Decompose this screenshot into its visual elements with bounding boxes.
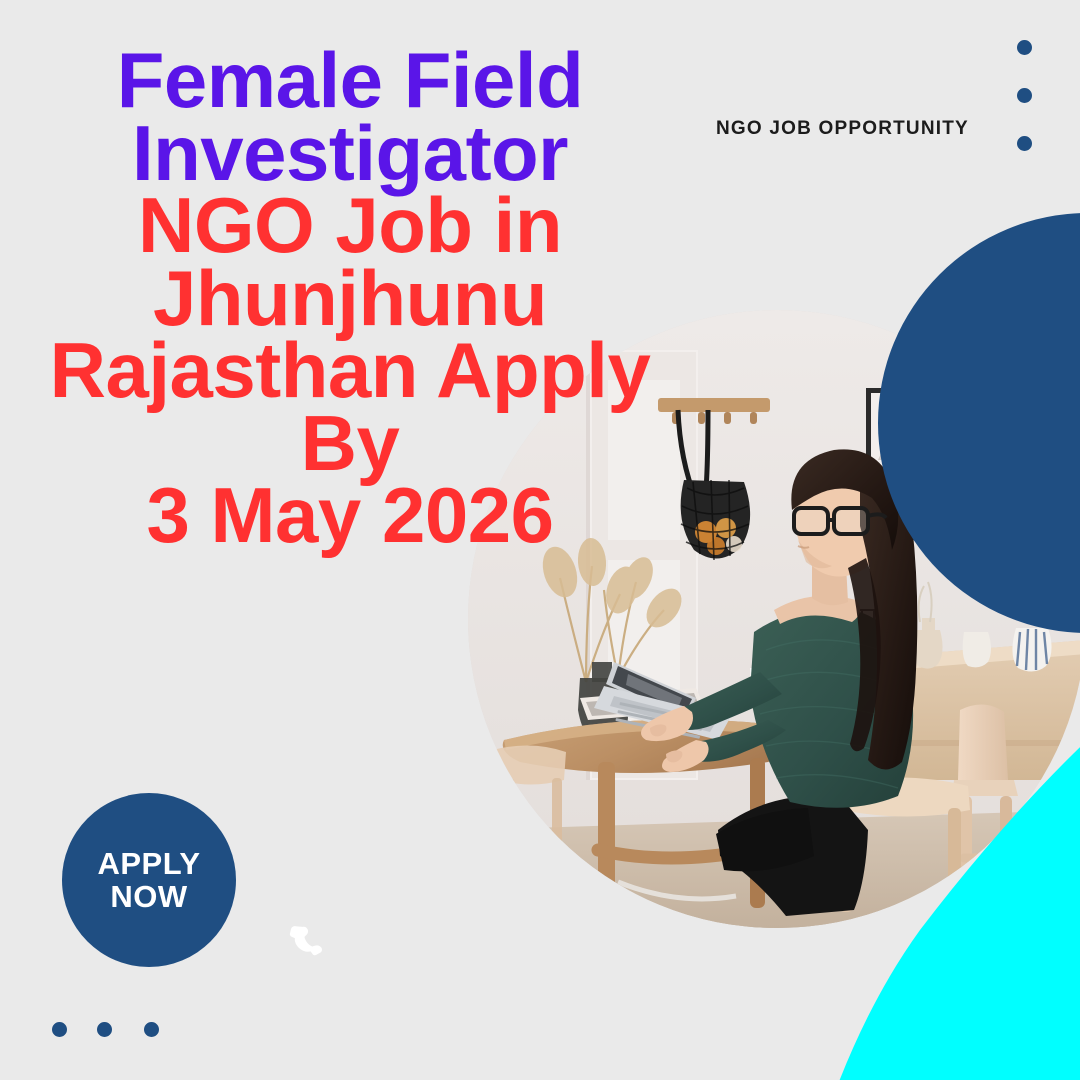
phone-icon: [284, 922, 326, 964]
decor-dot: [1017, 88, 1032, 103]
decor-dot: [1017, 40, 1032, 55]
poster-canvas: NGO JOB OPPORTUNITY Female Field Investi…: [0, 0, 1080, 1080]
apply-now-label-line1: APPLY: [97, 847, 200, 880]
dots-top-right: [1015, 40, 1035, 160]
cyan-wedge-decoration: [760, 700, 1080, 1080]
title-line-1: Female Field: [0, 44, 700, 117]
page-title: Female Field Investigator NGO Job in Jhu…: [0, 44, 700, 552]
decor-dot: [1017, 136, 1032, 151]
title-line-4: Jhunjhunu: [0, 262, 700, 335]
title-line-6: By: [0, 407, 700, 480]
title-line-3: NGO Job in: [0, 189, 700, 262]
dots-bottom-left: [52, 1022, 162, 1040]
decor-dot: [144, 1022, 159, 1037]
apply-now-button[interactable]: APPLY NOW: [62, 793, 236, 967]
title-line-7: 3 May 2026: [0, 479, 700, 552]
apply-now-label-line2: NOW: [110, 880, 187, 913]
title-line-2: Investigator: [0, 117, 700, 190]
decor-dot: [52, 1022, 67, 1037]
decor-dot: [97, 1022, 112, 1037]
kicker-label: NGO JOB OPPORTUNITY: [716, 118, 969, 140]
title-line-5: Rajasthan Apply: [0, 334, 700, 407]
